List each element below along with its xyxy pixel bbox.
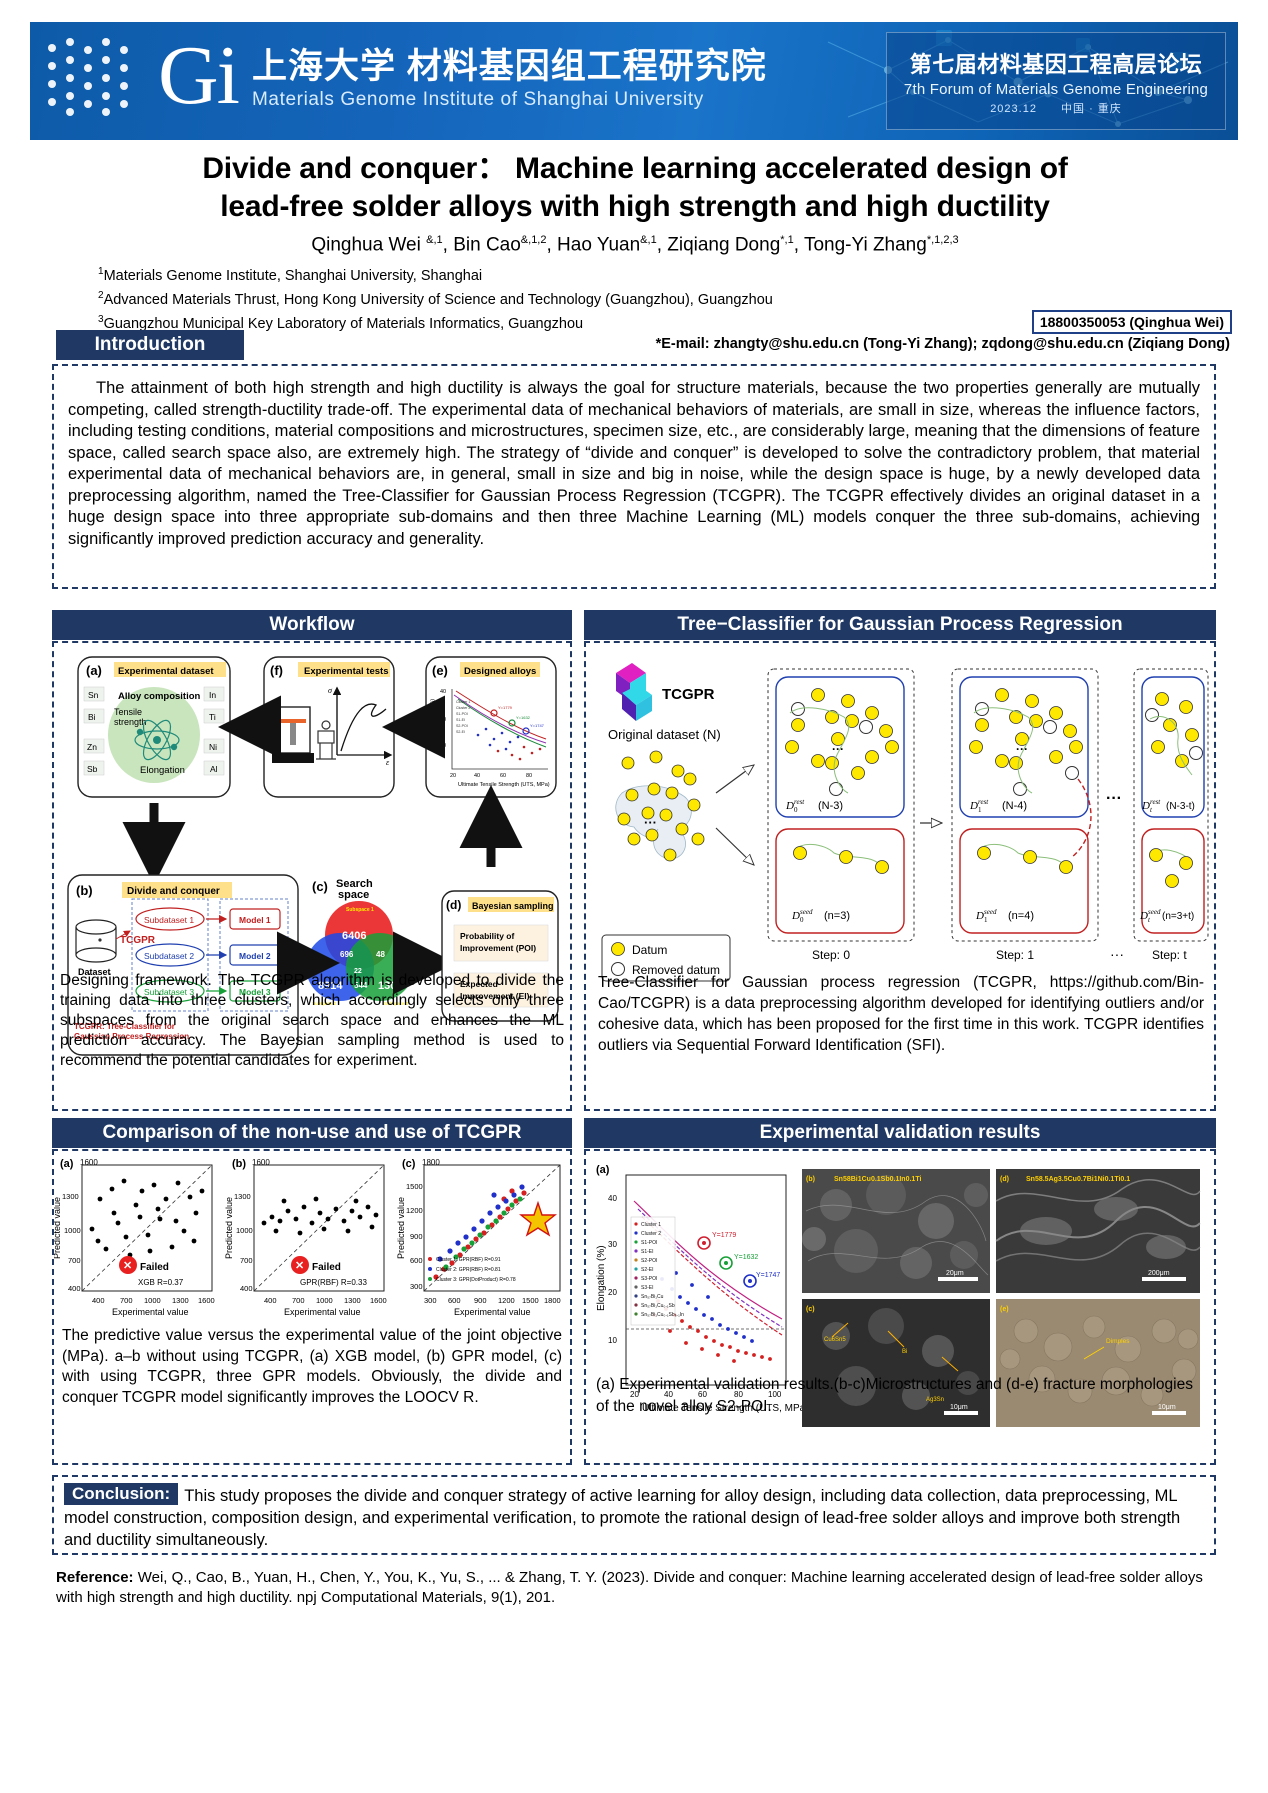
svg-text:Step: t: Step: t — [1152, 948, 1187, 962]
chart-a: (a) 1600 13001000 700400 400700 10001300… — [54, 1158, 215, 1317]
svg-text:Tensile: Tensile — [114, 707, 142, 717]
micrograph-d: (d) Sn58.5Ag3.5Cu0.7Bi1Ni0.1Ti0.1 200μm — [996, 1169, 1200, 1293]
introduction-text: The attainment of both high strength and… — [68, 378, 1200, 550]
svg-text:(f): (f) — [270, 663, 283, 678]
svg-text:Predicted value: Predicted value — [396, 1197, 406, 1259]
svg-text:S2-POI: S2-POI — [456, 724, 468, 728]
svg-text:400: 400 — [68, 1284, 81, 1293]
section-header-experimental: Experimental validation results — [584, 1118, 1216, 1148]
svg-text:Dimples: Dimples — [1106, 1338, 1130, 1345]
svg-text:Probability of: Probability of — [460, 931, 514, 941]
svg-text:Model 1: Model 1 — [239, 915, 271, 925]
svg-text:Bi: Bi — [902, 1349, 907, 1355]
svg-text:(N-3): (N-3) — [818, 800, 843, 812]
svg-text:(N-3-t): (N-3-t) — [1166, 801, 1195, 812]
svg-text:(a): (a) — [86, 663, 102, 678]
svg-text:(a): (a) — [60, 1158, 74, 1170]
svg-text:Subdataset 2: Subdataset 2 — [144, 951, 194, 961]
forum-title-en: 7th Forum of Materials Genome Engineerin… — [904, 81, 1208, 98]
svg-text:1500: 1500 — [522, 1296, 539, 1305]
svg-text:···: ··· — [832, 742, 844, 756]
svg-text:10: 10 — [608, 1336, 617, 1345]
section-header-comparison: Comparison of the non-use and use of TCG… — [52, 1118, 572, 1148]
svg-text:Failed: Failed — [312, 1262, 341, 1273]
svg-text:Ultimate Tensile Strength (UTS: Ultimate Tensile Strength (UTS, MPa) — [458, 782, 550, 788]
svg-text:XGB R=0.37: XGB R=0.37 — [138, 1278, 184, 1287]
conclusion-box: Conclusion:This study proposes the divid… — [52, 1475, 1216, 1555]
svg-text:GPR(RBF) R=0.33: GPR(RBF) R=0.33 — [300, 1278, 367, 1287]
svg-text:Sn58Bi1Cu0.1Sb0.1In0.1Ti: Sn58Bi1Cu0.1Sb0.1In0.1Ti — [834, 1176, 921, 1183]
svg-text:Elongation (%): Elongation (%) — [430, 699, 436, 735]
svg-text:1200: 1200 — [498, 1296, 515, 1305]
svg-text:1600: 1600 — [370, 1296, 387, 1305]
section-header-tcgpr: Tree−Classifier for Gaussian Process Reg… — [584, 610, 1216, 640]
svg-text:60: 60 — [500, 773, 506, 779]
svg-text:S3-POI: S3-POI — [641, 1276, 657, 1282]
svg-text:Experimental value: Experimental value — [112, 1307, 189, 1317]
svg-text:900: 900 — [474, 1296, 487, 1305]
svg-text:(b): (b) — [232, 1158, 246, 1170]
affiliation-1: 1Materials Genome Institute, Shanghai Un… — [98, 262, 1230, 286]
comparison-caption: The predictive value versus the experime… — [56, 1322, 568, 1462]
svg-text:Alloy composition: Alloy composition — [118, 691, 201, 702]
svg-text:80: 80 — [526, 773, 532, 779]
forum-date: 2023.12 — [990, 103, 1037, 115]
svg-text:Sn₅₇Bi₁Cu₀.₁Sb₀.₁In: Sn₅₇Bi₁Cu₀.₁Sb₀.₁In — [641, 1312, 684, 1318]
svg-text:40: 40 — [474, 773, 480, 779]
svg-text:Experimental tests: Experimental tests — [304, 666, 388, 677]
svg-text:600: 600 — [448, 1296, 461, 1305]
svg-text:40: 40 — [440, 689, 446, 695]
svg-text:Sb: Sb — [87, 764, 98, 774]
svg-text:1800: 1800 — [544, 1296, 561, 1305]
poster-title-line2: lead-free solder alloys with high streng… — [40, 188, 1230, 226]
svg-text:300: 300 — [424, 1296, 437, 1305]
tcgpr-caption: Tree-Classifier for Gaussian process reg… — [590, 968, 1212, 1108]
chart-b: (b) 1600 13001000 700400 400700 10001300… — [224, 1158, 387, 1317]
svg-text:S1-POI: S1-POI — [641, 1240, 657, 1246]
poster-title-block: Divide and conquer： Machine learning acc… — [40, 150, 1230, 334]
introduction-body: The attainment of both high strength and… — [52, 364, 1216, 589]
institute-name-cn: 上海大学 材料基因组工程研究院 — [252, 47, 767, 87]
svg-text:1000: 1000 — [144, 1296, 161, 1305]
svg-text:Designed alloys: Designed alloys — [464, 666, 536, 677]
svg-text:700: 700 — [240, 1256, 253, 1265]
svg-text:200μm: 200μm — [1148, 1270, 1170, 1277]
svg-text:Model 2: Model 2 — [239, 951, 271, 961]
svg-text:20μm: 20μm — [946, 1270, 964, 1277]
svg-text:Subspace 1: Subspace 1 — [346, 907, 374, 913]
svg-text:Original dataset (N): Original dataset (N) — [608, 727, 721, 742]
svg-text:D: D — [975, 910, 984, 922]
tcgpr-logo — [616, 663, 652, 721]
svg-text:48: 48 — [376, 950, 385, 959]
svg-text:(c): (c) — [806, 1306, 815, 1313]
svg-text:Y=1747: Y=1747 — [530, 723, 545, 728]
section-header-workflow: Workflow — [52, 610, 572, 640]
workflow-caption: Designing framework. The TCGPR algorithm… — [52, 965, 572, 1111]
svg-text:···: ··· — [1110, 946, 1124, 962]
svg-text:···: ··· — [644, 815, 657, 830]
reference-block: Reference: Wei, Q., Cao, B., Yuan, H., C… — [56, 1568, 1216, 1608]
svg-text:S2-EI: S2-EI — [456, 730, 465, 734]
reference-text: Wei, Q., Cao, B., Yuan, H., Chen, Y., Yo… — [56, 1569, 1203, 1606]
svg-text:1600: 1600 — [198, 1296, 215, 1305]
svg-text:(b): (b) — [806, 1176, 815, 1183]
svg-text:···: ··· — [1106, 790, 1122, 807]
svg-text:700: 700 — [120, 1296, 133, 1305]
svg-text:Y=1779: Y=1779 — [712, 1232, 736, 1239]
svg-text:30: 30 — [440, 717, 446, 723]
svg-text:Cluster 2: GPR(RBF) R=0.81: Cluster 2: GPR(RBF) R=0.81 — [436, 1267, 501, 1273]
svg-text:Sn₅₇Bi₁Cu: Sn₅₇Bi₁Cu — [641, 1294, 664, 1300]
svg-text:1: 1 — [984, 916, 988, 924]
svg-text:(n=3): (n=3) — [824, 910, 850, 922]
svg-text:1500: 1500 — [406, 1182, 423, 1191]
svg-text:Sn₅₇Bi₁Cu₀.₁Sb: Sn₅₇Bi₁Cu₀.₁Sb — [641, 1303, 675, 1309]
svg-text:D: D — [1139, 910, 1148, 922]
svg-text:rest: rest — [1150, 798, 1161, 806]
forum-title-cn: 第七届材料基因工程高层论坛 — [910, 47, 1203, 79]
svg-text:Step: 1: Step: 1 — [996, 948, 1034, 962]
svg-text:700: 700 — [68, 1256, 81, 1265]
conclusion-text: This study proposes the divide and conqu… — [64, 1487, 1180, 1549]
svg-text:Improvement (POI): Improvement (POI) — [460, 943, 536, 953]
svg-text:Subdataset 1: Subdataset 1 — [144, 915, 194, 925]
chart-c: (c) 1800 15001200 900600300 300600900 12… — [396, 1158, 561, 1317]
svg-text:Cluster 1: GPR(RBF) R=0.91: Cluster 1: GPR(RBF) R=0.91 — [436, 1257, 501, 1263]
svg-text:TCGPR: TCGPR — [120, 935, 156, 946]
svg-text:S2-POI: S2-POI — [641, 1258, 657, 1264]
svg-text:Bayesian sampling: Bayesian sampling — [472, 901, 554, 911]
svg-text:1200: 1200 — [406, 1206, 423, 1215]
svg-text:S3-EI: S3-EI — [641, 1285, 654, 1291]
svg-text:400: 400 — [264, 1296, 277, 1305]
svg-text:0: 0 — [794, 806, 798, 814]
svg-text:Elongation (%): Elongation (%) — [596, 1245, 607, 1311]
svg-text:Experimental dataset: Experimental dataset — [118, 666, 214, 677]
svg-text:20: 20 — [440, 743, 446, 749]
svg-text:600: 600 — [410, 1256, 423, 1265]
svg-text:Cluster 3: GPR(DotProduct) R=0: Cluster 3: GPR(DotProduct) R=0.78 — [436, 1277, 516, 1283]
svg-text:Y=1632: Y=1632 — [516, 715, 531, 720]
svg-text:Bi: Bi — [88, 712, 96, 722]
svg-text:(n=4): (n=4) — [1008, 910, 1034, 922]
svg-text:900: 900 — [410, 1232, 423, 1241]
svg-text:700: 700 — [292, 1296, 305, 1305]
section-header-introduction: Introduction — [56, 330, 244, 360]
forum-place: 中国 · 重庆 — [1061, 103, 1122, 115]
forum-badge: 第七届材料基因工程高层论坛 7th Forum of Materials Gen… — [886, 32, 1226, 130]
svg-text:Cluster 1: Cluster 1 — [456, 700, 470, 704]
affiliation-2: 2Advanced Materials Thrust, Hong Kong Un… — [98, 286, 1230, 310]
conclusion-tag: Conclusion: — [64, 1483, 178, 1505]
svg-text:Step: 0: Step: 0 — [812, 948, 850, 962]
svg-text:Datum: Datum — [632, 943, 667, 957]
svg-text:(e): (e) — [1000, 1306, 1009, 1313]
contact-phone: 18800350053 (Qinghua Wei) — [1032, 310, 1232, 334]
svg-text:Cluster 2: Cluster 2 — [641, 1231, 661, 1237]
svg-text:Cluster 1: Cluster 1 — [641, 1222, 661, 1228]
svg-text:(a): (a) — [596, 1164, 610, 1176]
svg-text:Ni: Ni — [209, 742, 217, 752]
svg-text:30: 30 — [608, 1240, 617, 1249]
svg-text:(c): (c) — [312, 879, 328, 894]
svg-text:seed: seed — [1148, 908, 1161, 916]
svg-text:rest: rest — [978, 798, 989, 806]
svg-text:(n=3+t): (n=3+t) — [1162, 911, 1194, 922]
svg-text:300: 300 — [410, 1282, 423, 1291]
svg-text:Experimental value: Experimental value — [284, 1307, 361, 1317]
svg-text:D: D — [969, 800, 978, 812]
svg-text:seed: seed — [984, 908, 997, 916]
svg-text:(b): (b) — [76, 883, 93, 898]
logo-letters: Gi — [158, 40, 238, 112]
svg-text:Failed: Failed — [140, 1262, 169, 1273]
institute-name-en: Materials Genome Institute of Shanghai U… — [252, 89, 767, 111]
svg-text:(e): (e) — [432, 663, 448, 678]
svg-text:1: 1 — [978, 806, 982, 814]
svg-text:Divide and conquer: Divide and conquer — [127, 886, 220, 897]
svg-text:Y=1632: Y=1632 — [734, 1254, 758, 1261]
svg-text:D: D — [785, 800, 794, 812]
author-list: Qinghua Wei &,1, Bin Cao&,1,2, Hao Yuan&… — [40, 234, 1230, 256]
svg-text:S1-EI: S1-EI — [456, 718, 465, 722]
svg-text:Sn: Sn — [88, 690, 99, 700]
svg-text:Zn: Zn — [87, 742, 97, 752]
corresponding-email: *E-mail: zhangty@shu.edu.cn (Tong-Yi Zha… — [270, 336, 1230, 352]
svg-text:1300: 1300 — [62, 1192, 79, 1201]
svg-text:(d): (d) — [446, 898, 461, 912]
reference-tag: Reference: — [56, 1569, 134, 1586]
svg-text:1300: 1300 — [344, 1296, 361, 1305]
micrograph-b: (b) Sn58Bi1Cu0.1Sb0.1In0.1Ti 20μm — [802, 1169, 990, 1293]
svg-text:Predicted value: Predicted value — [224, 1197, 234, 1259]
svg-text:In: In — [209, 690, 216, 700]
header-banner: Gi 上海大学 材料基因组工程研究院 Materials Genome Inst… — [30, 22, 1238, 140]
svg-text:Y=1747: Y=1747 — [756, 1272, 780, 1279]
svg-text:20: 20 — [450, 773, 456, 779]
svg-text:···: ··· — [1016, 742, 1028, 756]
svg-text:strength: strength — [114, 717, 147, 727]
poster-title-line1: Divide and conquer： Machine learning acc… — [40, 150, 1230, 188]
svg-text:TCGPR: TCGPR — [662, 686, 715, 703]
svg-text:S1-EI: S1-EI — [641, 1249, 654, 1255]
svg-text:S1-POI: S1-POI — [456, 712, 468, 716]
svg-text:Elongation: Elongation — [140, 765, 185, 776]
svg-text:Y=1779: Y=1779 — [498, 705, 513, 710]
svg-text:Sn58.5Ag3.5Cu0.7Bi1Ni0.1Ti0.1: Sn58.5Ag3.5Cu0.7Bi1Ni0.1Ti0.1 — [1026, 1176, 1130, 1183]
svg-text:Experimental value: Experimental value — [454, 1307, 531, 1317]
experimental-caption: (a) Experimental validation results.(b-c… — [590, 1370, 1212, 1460]
svg-text:400: 400 — [240, 1284, 253, 1293]
svg-text:1300: 1300 — [234, 1192, 251, 1201]
svg-text:D: D — [791, 910, 800, 922]
svg-text:rest: rest — [794, 798, 805, 806]
institute-logo: Gi 上海大学 材料基因组工程研究院 Materials Genome Inst… — [44, 34, 767, 122]
dot-matrix-icon — [44, 34, 154, 122]
svg-text:40: 40 — [608, 1194, 617, 1203]
svg-text:(N-4): (N-4) — [1002, 800, 1027, 812]
svg-text:1300: 1300 — [172, 1296, 189, 1305]
svg-text:D: D — [1141, 800, 1150, 812]
svg-text:0: 0 — [800, 916, 804, 924]
svg-text:400: 400 — [92, 1296, 105, 1305]
svg-text:Ti: Ti — [209, 712, 216, 722]
svg-text:Al: Al — [210, 764, 218, 774]
svg-text:696: 696 — [340, 950, 354, 959]
svg-text:Cu6Sn5: Cu6Sn5 — [824, 1337, 846, 1343]
svg-text:Cluster 2: Cluster 2 — [456, 706, 470, 710]
svg-text:6406: 6406 — [342, 930, 366, 942]
svg-text:seed: seed — [800, 908, 813, 916]
svg-text:Predicted value: Predicted value — [54, 1197, 62, 1259]
svg-text:space: space — [338, 889, 369, 901]
svg-text:S2-EI: S2-EI — [641, 1267, 654, 1273]
svg-text:(d): (d) — [1000, 1176, 1009, 1183]
svg-text:1000: 1000 — [316, 1296, 333, 1305]
svg-text:✕: ✕ — [295, 1260, 304, 1272]
svg-text:1000: 1000 — [236, 1226, 253, 1235]
svg-text:20: 20 — [608, 1288, 617, 1297]
svg-text:✕: ✕ — [123, 1260, 132, 1272]
poster-title: Divide and conquer： Machine learning acc… — [40, 150, 1230, 226]
svg-text:(c): (c) — [402, 1158, 416, 1170]
svg-text:1000: 1000 — [64, 1226, 81, 1235]
